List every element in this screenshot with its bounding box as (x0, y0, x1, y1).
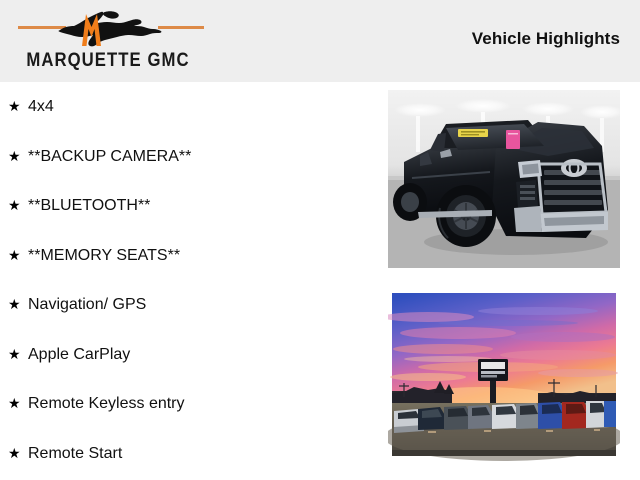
star-icon: ★ (8, 82, 21, 132)
page-header: MARQUETTE GMC Vehicle Highlights (0, 0, 640, 82)
list-item-label: **BLUETOOTH** (28, 197, 150, 214)
list-item-label: **BACKUP CAMERA** (28, 148, 191, 165)
logo-rule-right (158, 26, 204, 29)
list-item: ★ **MEMORY SEATS** (0, 231, 380, 281)
star-icon: ★ (8, 379, 21, 429)
star-icon: ★ (8, 429, 21, 479)
list-item: ★ **BACKUP CAMERA** (0, 132, 380, 182)
star-icon: ★ (8, 132, 21, 182)
list-item: ★ Navigation/ GPS (0, 280, 380, 330)
vehicle-photo-front-three-quarter[interactable] (388, 90, 620, 268)
star-icon: ★ (8, 330, 21, 380)
star-icon: ★ (8, 280, 21, 330)
page-title: Vehicle Highlights (472, 29, 620, 49)
star-icon: ★ (8, 231, 21, 281)
list-item: ★ **BLUETOOTH** (0, 181, 380, 231)
list-item-label: 4x4 (28, 98, 54, 115)
vehicle-highlights-list: ★ 4x4 ★ **BACKUP CAMERA** ★ **BLUETOOTH*… (0, 82, 380, 478)
list-item-label: Apple CarPlay (28, 346, 130, 363)
list-item-label: Remote Start (28, 445, 122, 462)
dealership-photo-sunset-lot[interactable] (388, 287, 620, 462)
list-item: ★ Apple CarPlay (0, 330, 380, 380)
logo-wordmark: MARQUETTE GMC (20, 50, 196, 72)
list-item: ★ Remote Start (0, 429, 380, 479)
dealer-logo[interactable]: MARQUETTE GMC (8, 6, 208, 78)
list-item: ★ 4x4 (0, 82, 380, 132)
list-item-label: **MEMORY SEATS** (28, 247, 180, 264)
logo-mark (8, 6, 208, 50)
vehicle-highlights-slide: MARQUETTE GMC Vehicle Highlights ★ 4x4 ★… (0, 0, 640, 480)
list-item-label: Navigation/ GPS (28, 296, 146, 313)
list-item: ★ Remote Keyless entry (0, 379, 380, 429)
page-content: ★ 4x4 ★ **BACKUP CAMERA** ★ **BLUETOOTH*… (0, 82, 640, 480)
star-icon: ★ (8, 181, 21, 231)
upper-peninsula-michigan-silhouette-icon (58, 6, 163, 50)
list-item-label: Remote Keyless entry (28, 395, 185, 412)
